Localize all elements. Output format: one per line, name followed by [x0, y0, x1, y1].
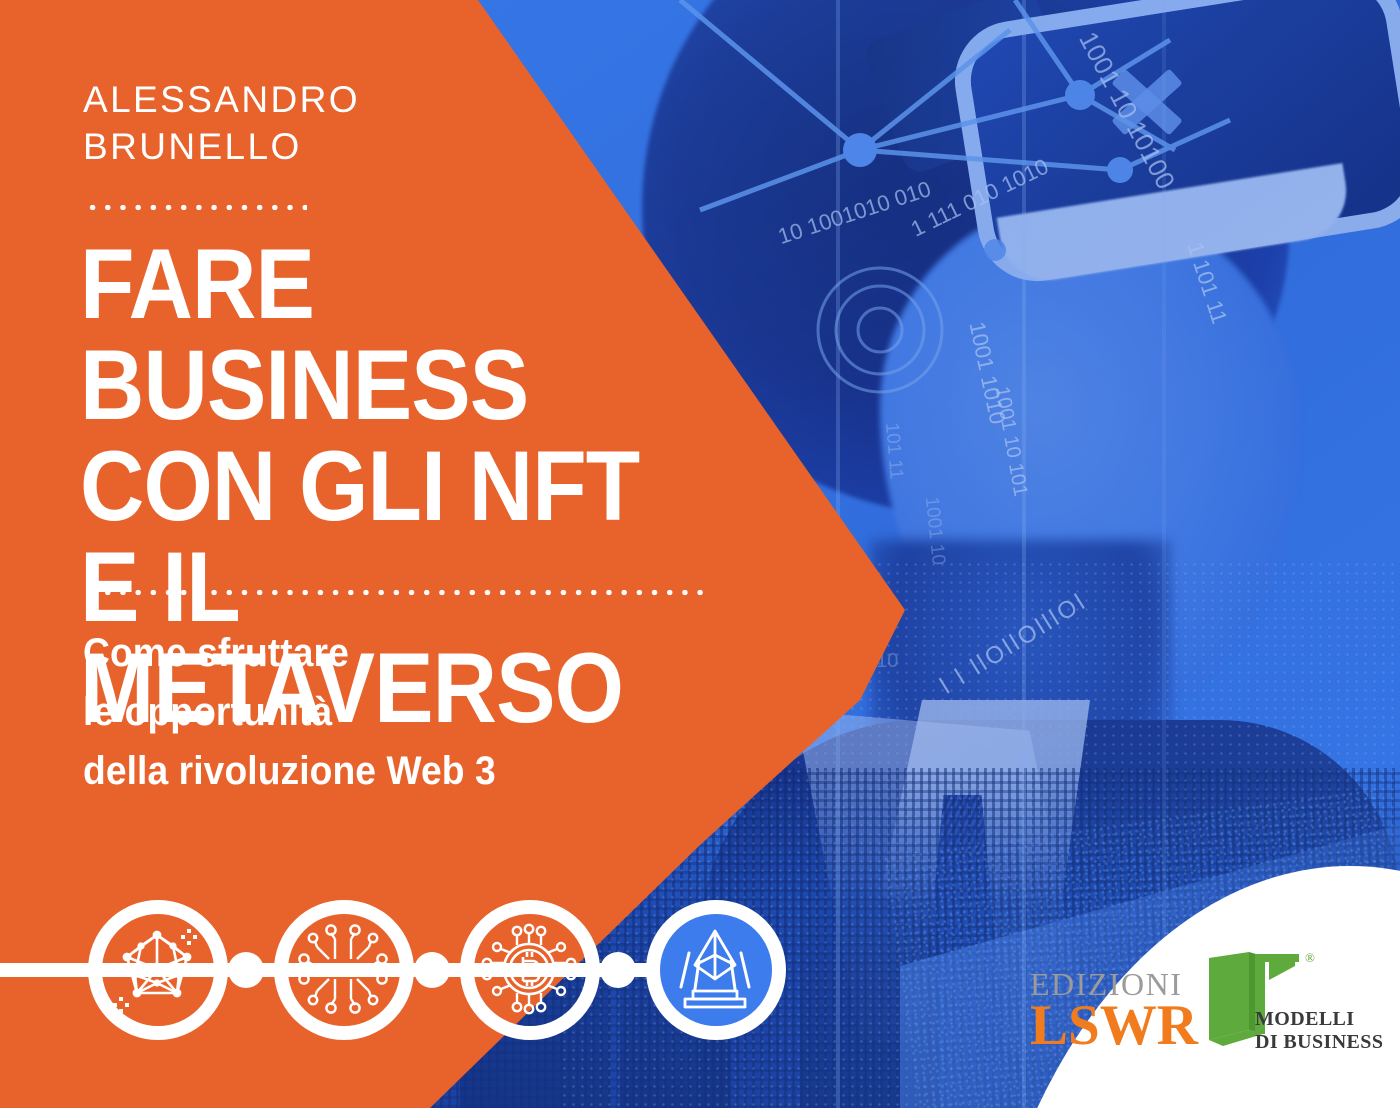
- series-logo-line-2: DI BUSINESS: [1255, 1031, 1383, 1054]
- series-logo-modelli-di-business: ® MODELLI DI BUSINESS: [1203, 950, 1363, 1058]
- subtitle-line-2: le opportunità: [83, 683, 697, 742]
- dotted-rule-top: [85, 204, 307, 211]
- publisher-logo-lswr: EDIZIONI LSWR: [1030, 968, 1198, 1052]
- title-line-2: CON GLI NFT: [80, 435, 728, 536]
- ethereum-pedestal-icon: [646, 900, 786, 1040]
- series-logo-line-1: MODELLI: [1255, 1008, 1383, 1031]
- author-name: ALESSANDRO BRUNELLO: [83, 76, 643, 170]
- blockchain-network-icon: [88, 900, 228, 1040]
- nft-node-graph-icon: NFT: [274, 900, 414, 1040]
- chain-node-3: [600, 952, 636, 988]
- subtitle: Come sfruttare le opportunità della rivo…: [83, 624, 743, 801]
- subtitle-line-3: della rivoluzione Web 3: [83, 742, 697, 801]
- author-line-2: BRUNELLO: [83, 123, 643, 170]
- bitcoin-circuit-icon: [460, 900, 600, 1040]
- registered-trademark-mark: ®: [1305, 950, 1315, 966]
- dotted-rule-middle: [85, 589, 710, 596]
- series-logo-text: MODELLI DI BUSINESS: [1255, 1008, 1383, 1054]
- svg-text:NFT: NFT: [326, 961, 360, 980]
- title-line-1: FARE BUSINESS: [80, 233, 728, 435]
- book-cover: 10 1001010 010 1 111 010 1010 1001 10 10…: [0, 0, 1400, 1108]
- subtitle-line-1: Come sfruttare: [83, 624, 697, 683]
- chain-node-1: [228, 952, 264, 988]
- chain-node-2: [414, 952, 450, 988]
- lswr-imprint-name: LSWR: [1030, 1000, 1198, 1052]
- author-line-1: ALESSANDRO: [83, 76, 643, 123]
